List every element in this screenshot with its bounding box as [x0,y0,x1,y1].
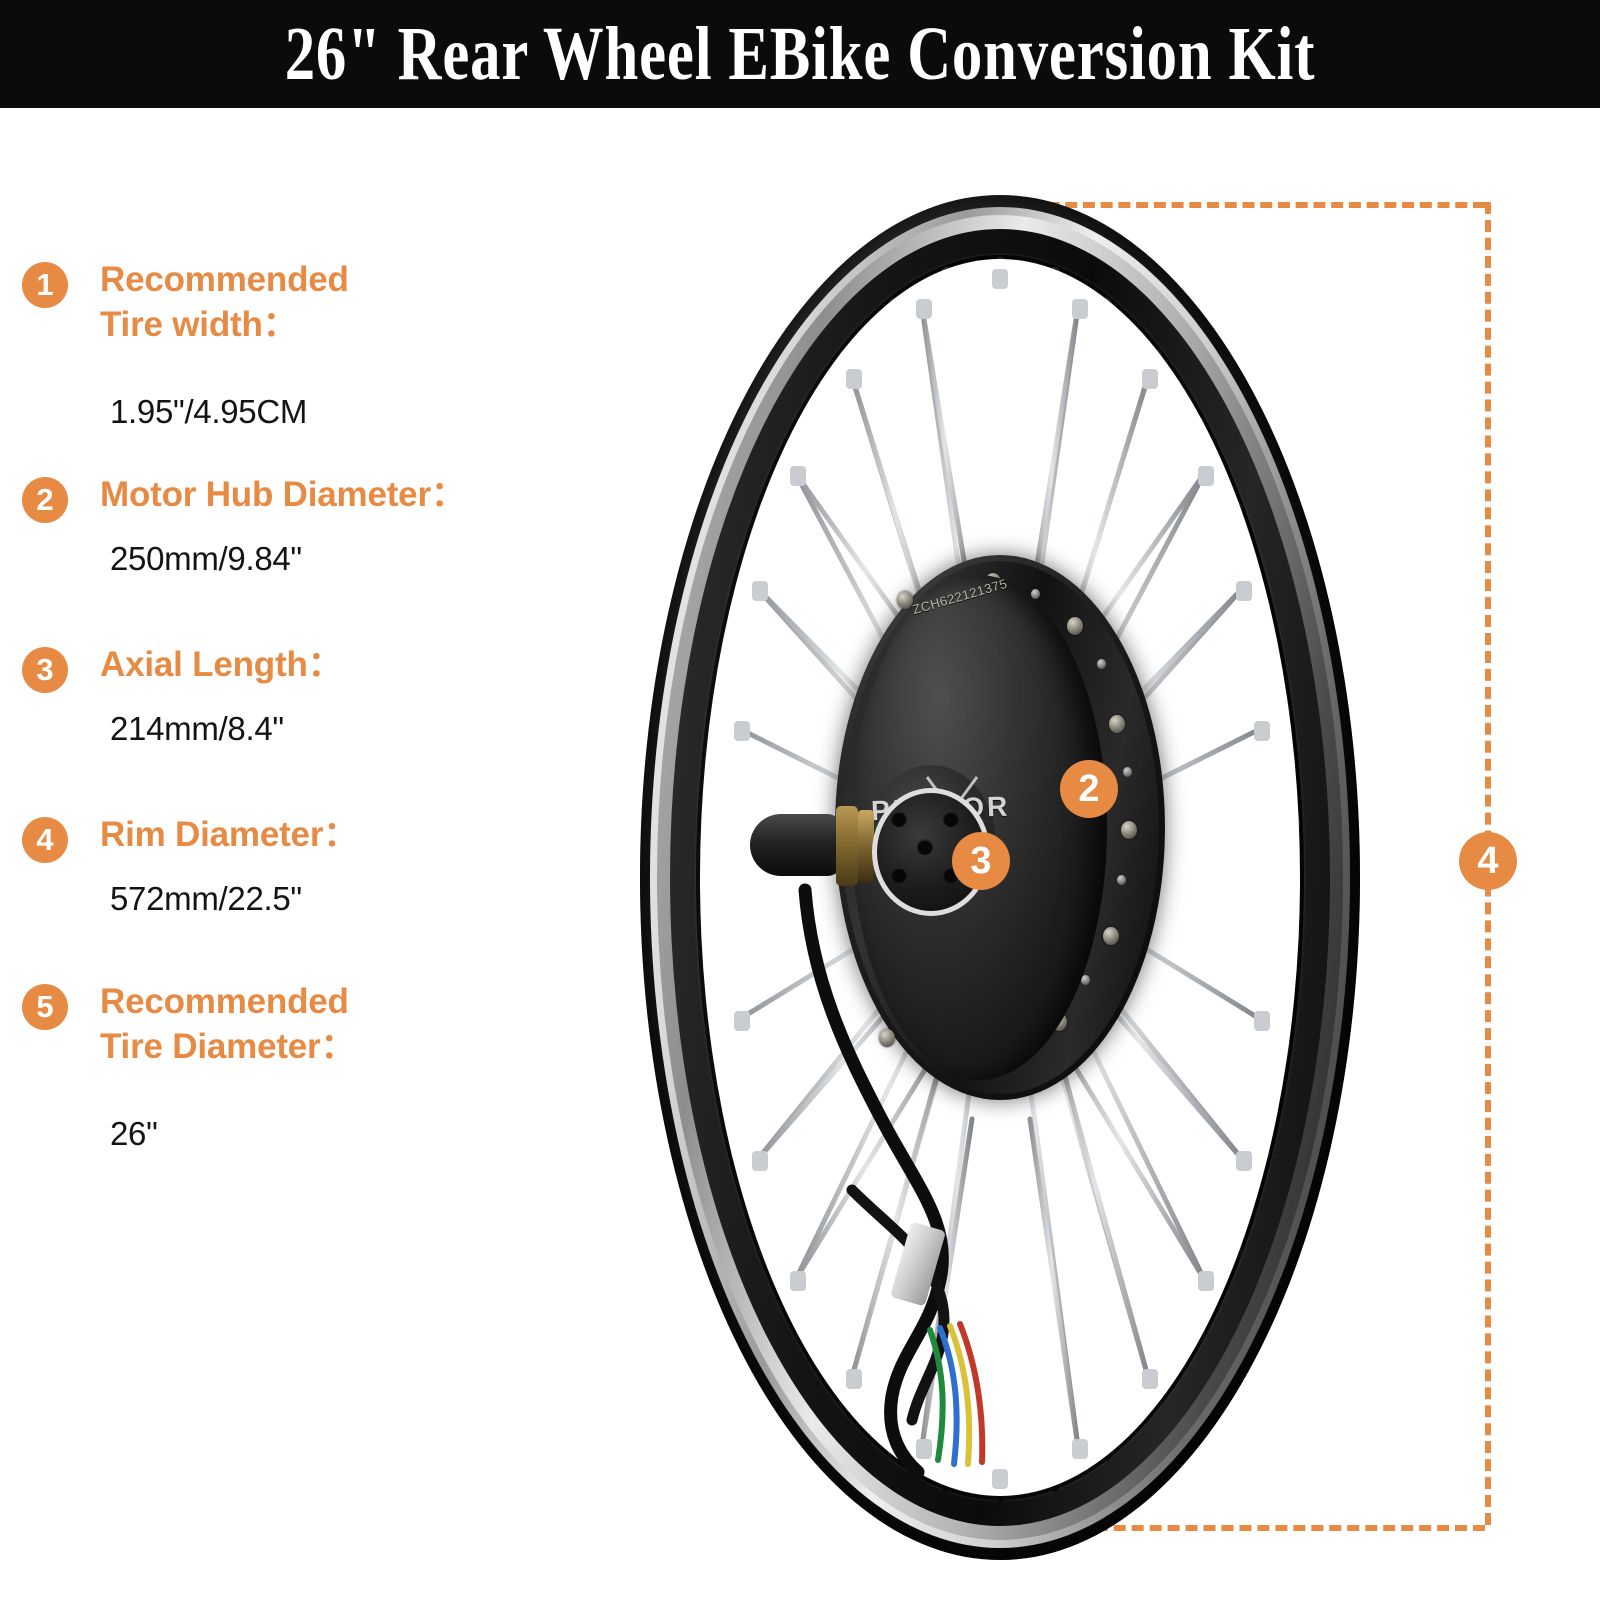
spec-heading-1: Recommended Tire width： [100,257,620,347]
spec-value-4: 572mm/22.5" [110,879,630,919]
disc-mount-hole [891,811,907,827]
product-photo: ZCH622121375 PEXMOR [600,120,1600,1600]
spec-heading-1-line2: Tire width： [100,305,297,344]
page-title: 26" Rear Wheel EBike Conversion Kit [160,0,1440,108]
disc-mount-hole [917,839,933,855]
callout-marker-2: 2 [1060,760,1118,818]
hub-rivet [1123,767,1132,777]
spec-heading-3: Axial Length： [100,642,620,687]
title-bar: 26" Rear Wheel EBike Conversion Kit [0,0,1600,108]
spec-number-badge-4: 4 [22,817,68,863]
spec-number-badge-1: 1 [22,262,68,308]
spec-number-badge-2: 2 [22,477,68,523]
axle-end-cap [750,814,842,876]
spec-heading-5-line1: Recommended [100,982,349,1021]
hub-bolt [1121,821,1137,839]
axle-lock-nut [836,806,858,886]
callout-marker-4: 4 [1459,832,1517,890]
hub-bolt [1067,617,1083,635]
spec-heading-5-line2: Tire Diameter： [100,1027,355,1066]
hub-bolt [879,1029,895,1047]
spec-value-2: 250mm/9.84" [110,539,630,579]
spec-heading-2: Motor Hub Diameter： [100,472,620,517]
spec-heading-5: Recommended Tire Diameter： [100,979,620,1069]
callout-marker-3: 3 [952,832,1010,890]
spec-value-3: 214mm/8.4" [110,709,630,749]
hub-rivet [1117,875,1126,885]
axle-assembly [750,780,980,910]
disc-mount-hole [891,867,907,883]
hub-bolt [897,591,913,609]
spec-heading-1-line1: Recommended [100,260,349,299]
hub-rivet [1081,975,1090,985]
hub-bolt [1103,927,1119,945]
hub-bolt [1109,715,1125,733]
spec-number-badge-3: 3 [22,647,68,693]
spec-value-5: 26" [110,1114,630,1154]
hub-rivet [1097,659,1106,669]
disc-mount-hole [943,811,959,827]
spec-number-badge-5: 5 [22,984,68,1030]
spec-heading-4: Rim Diameter： [100,812,620,857]
spec-value-1: 1.95"/4.95CM [110,392,630,432]
